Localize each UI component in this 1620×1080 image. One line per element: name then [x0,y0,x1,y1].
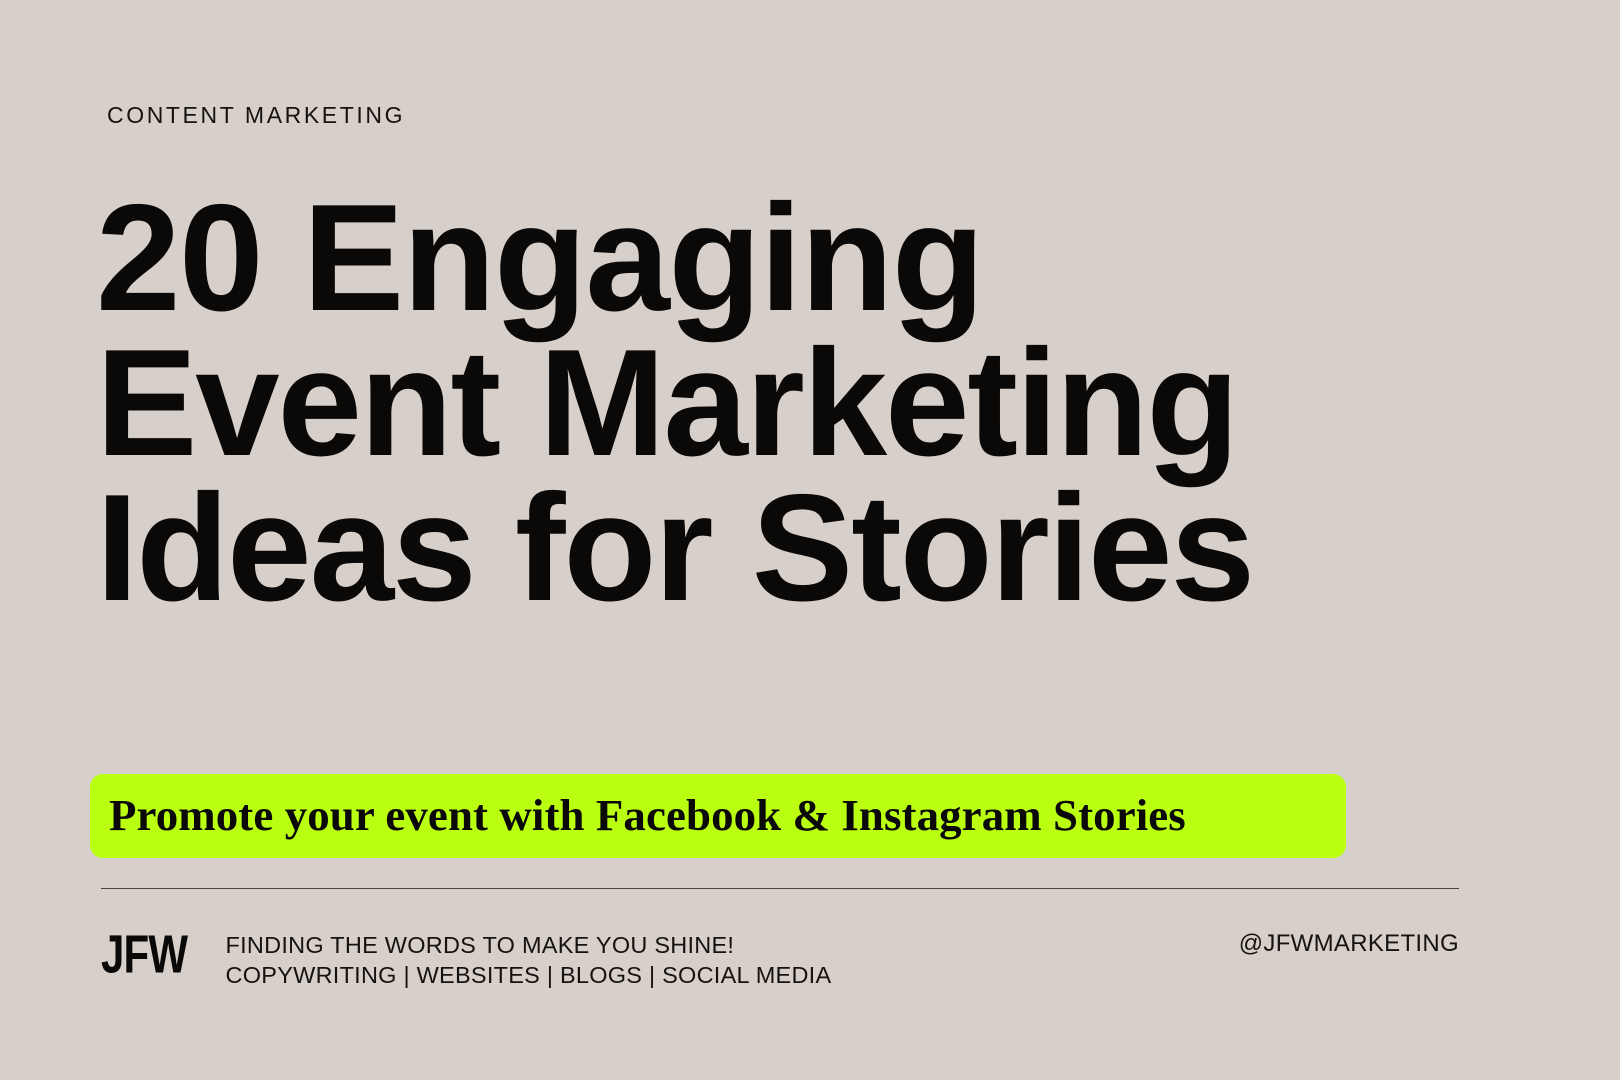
subtitle-highlight-bar: Promote your event with Facebook & Insta… [90,774,1346,858]
headline-line-2: Event Marketing [96,331,1496,476]
social-handle: @JFWMARKETING [1239,930,1459,958]
footer: JFW FINDING THE WORDS TO MAKE YOU SHINE!… [101,921,1459,1001]
headline-line-3: Ideas for Stories [96,476,1496,621]
footer-services: COPYWRITING | WEBSITES | BLOGS | SOCIAL … [226,960,832,990]
jfw-logo: JFW [101,928,187,981]
subtitle-text: Promote your event with Facebook & Insta… [109,794,1186,838]
footer-divider [101,888,1459,889]
footer-text-block: FINDING THE WORDS TO MAKE YOU SHINE! COP… [226,930,832,990]
slide-canvas: CONTENT MARKETING 20 Engaging Event Mark… [0,0,1620,1080]
footer-brand-block: JFW FINDING THE WORDS TO MAKE YOU SHINE!… [101,921,831,990]
eyebrow-category-label: CONTENT MARKETING [107,104,405,127]
footer-tagline: FINDING THE WORDS TO MAKE YOU SHINE! [226,930,832,960]
page-title: 20 Engaging Event Marketing Ideas for St… [96,186,1496,621]
headline-line-1: 20 Engaging [96,186,1496,331]
